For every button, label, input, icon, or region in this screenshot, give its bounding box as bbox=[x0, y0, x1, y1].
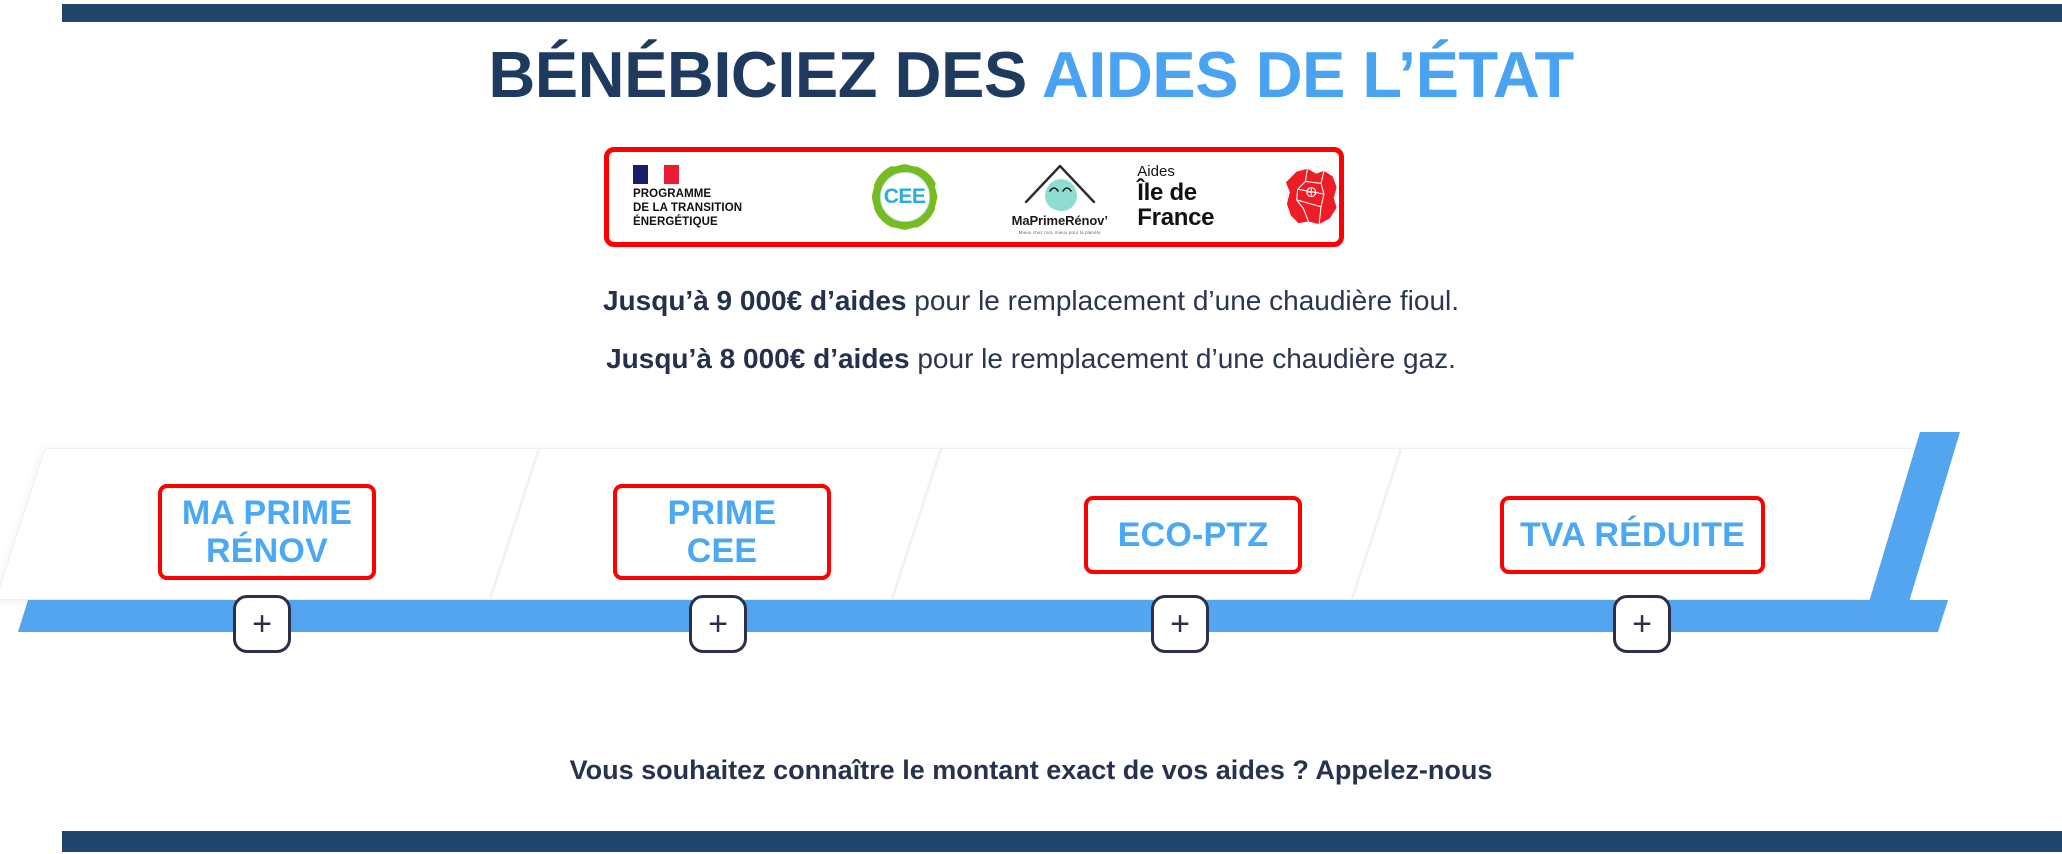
french-flag-icon bbox=[633, 165, 679, 184]
logo-cee: CEE bbox=[827, 152, 982, 242]
ile-de-france-map-icon bbox=[1284, 167, 1339, 227]
top-rule bbox=[62, 4, 2062, 22]
logo-programme-label: PROGRAMME DE LA TRANSITION ÉNERGÉTIQUE bbox=[633, 187, 742, 229]
logo-idf-small-label: Aides bbox=[1137, 164, 1276, 180]
aide-amount-gaz: Jusqu’à 8 000€ d’aides bbox=[606, 343, 910, 374]
expand-button-prime-cee[interactable]: + bbox=[689, 595, 747, 653]
footer-call-to-action: Vous souhaitez connaître le montant exac… bbox=[0, 755, 2062, 786]
logo-maprimerenov-label: MaPrimeRénov’ bbox=[1012, 213, 1108, 228]
aide-statement-gaz: Jusqu’à 8 000€ d’aides pour le remplacem… bbox=[0, 343, 2062, 375]
page-title-light: AIDES DE L’ÉTAT bbox=[1042, 38, 1574, 111]
aide-card-prime-cee[interactable]: PRIME CEE bbox=[613, 484, 831, 580]
aide-rest-fioul: pour le remplacement d’une chaudière fio… bbox=[906, 285, 1459, 316]
page-title: BÉNÉBICIEZ DES AIDES DE L’ÉTAT bbox=[0, 42, 2062, 107]
aide-amount-fioul: Jusqu’à 9 000€ d’aides bbox=[603, 285, 907, 316]
logo-maprimerenov-tagline: Mieux chez moi, mieux pour la planète bbox=[1019, 230, 1101, 235]
aide-rest-gaz: pour le remplacement d’une chaudière gaz… bbox=[910, 343, 1456, 374]
logo-cee-label: CEE bbox=[884, 185, 926, 209]
expand-button-eco-ptz[interactable]: + bbox=[1151, 595, 1209, 653]
aide-card-tva-reduite[interactable]: TVA RÉDUITE bbox=[1500, 496, 1765, 574]
logo-programme-transition-energetique: PROGRAMME DE LA TRANSITION ÉNERGÉTIQUE bbox=[609, 152, 827, 242]
logo-idf-big-label: Île de France bbox=[1137, 180, 1276, 230]
cee-badge-icon: CEE bbox=[872, 164, 938, 230]
bottom-rule bbox=[62, 831, 2062, 852]
maprimerenov-mark-icon bbox=[1023, 163, 1097, 211]
page-root: BÉNÉBICIEZ DES AIDES DE L’ÉTAT PROGRAMME… bbox=[0, 0, 2062, 854]
expand-button-ma-prime-renov[interactable]: + bbox=[233, 595, 291, 653]
logo-maprimerenov: MaPrimeRénov’ Mieux chez moi, mieux pour… bbox=[982, 152, 1137, 242]
aide-statement-fioul: Jusqu’à 9 000€ d’aides pour le remplacem… bbox=[0, 285, 2062, 317]
expand-button-tva-reduite[interactable]: + bbox=[1613, 595, 1671, 653]
smiling-eyes-icon bbox=[1049, 185, 1073, 195]
aide-card-ma-prime-renov[interactable]: MA PRIME RÉNOV bbox=[158, 484, 376, 580]
page-title-dark: BÉNÉBICIEZ DES bbox=[488, 38, 1026, 111]
logo-ile-de-france: Aides Île de France bbox=[1137, 152, 1339, 242]
aide-card-eco-ptz[interactable]: ECO-PTZ bbox=[1084, 496, 1302, 574]
partner-logo-strip: PROGRAMME DE LA TRANSITION ÉNERGÉTIQUE C… bbox=[604, 147, 1344, 247]
